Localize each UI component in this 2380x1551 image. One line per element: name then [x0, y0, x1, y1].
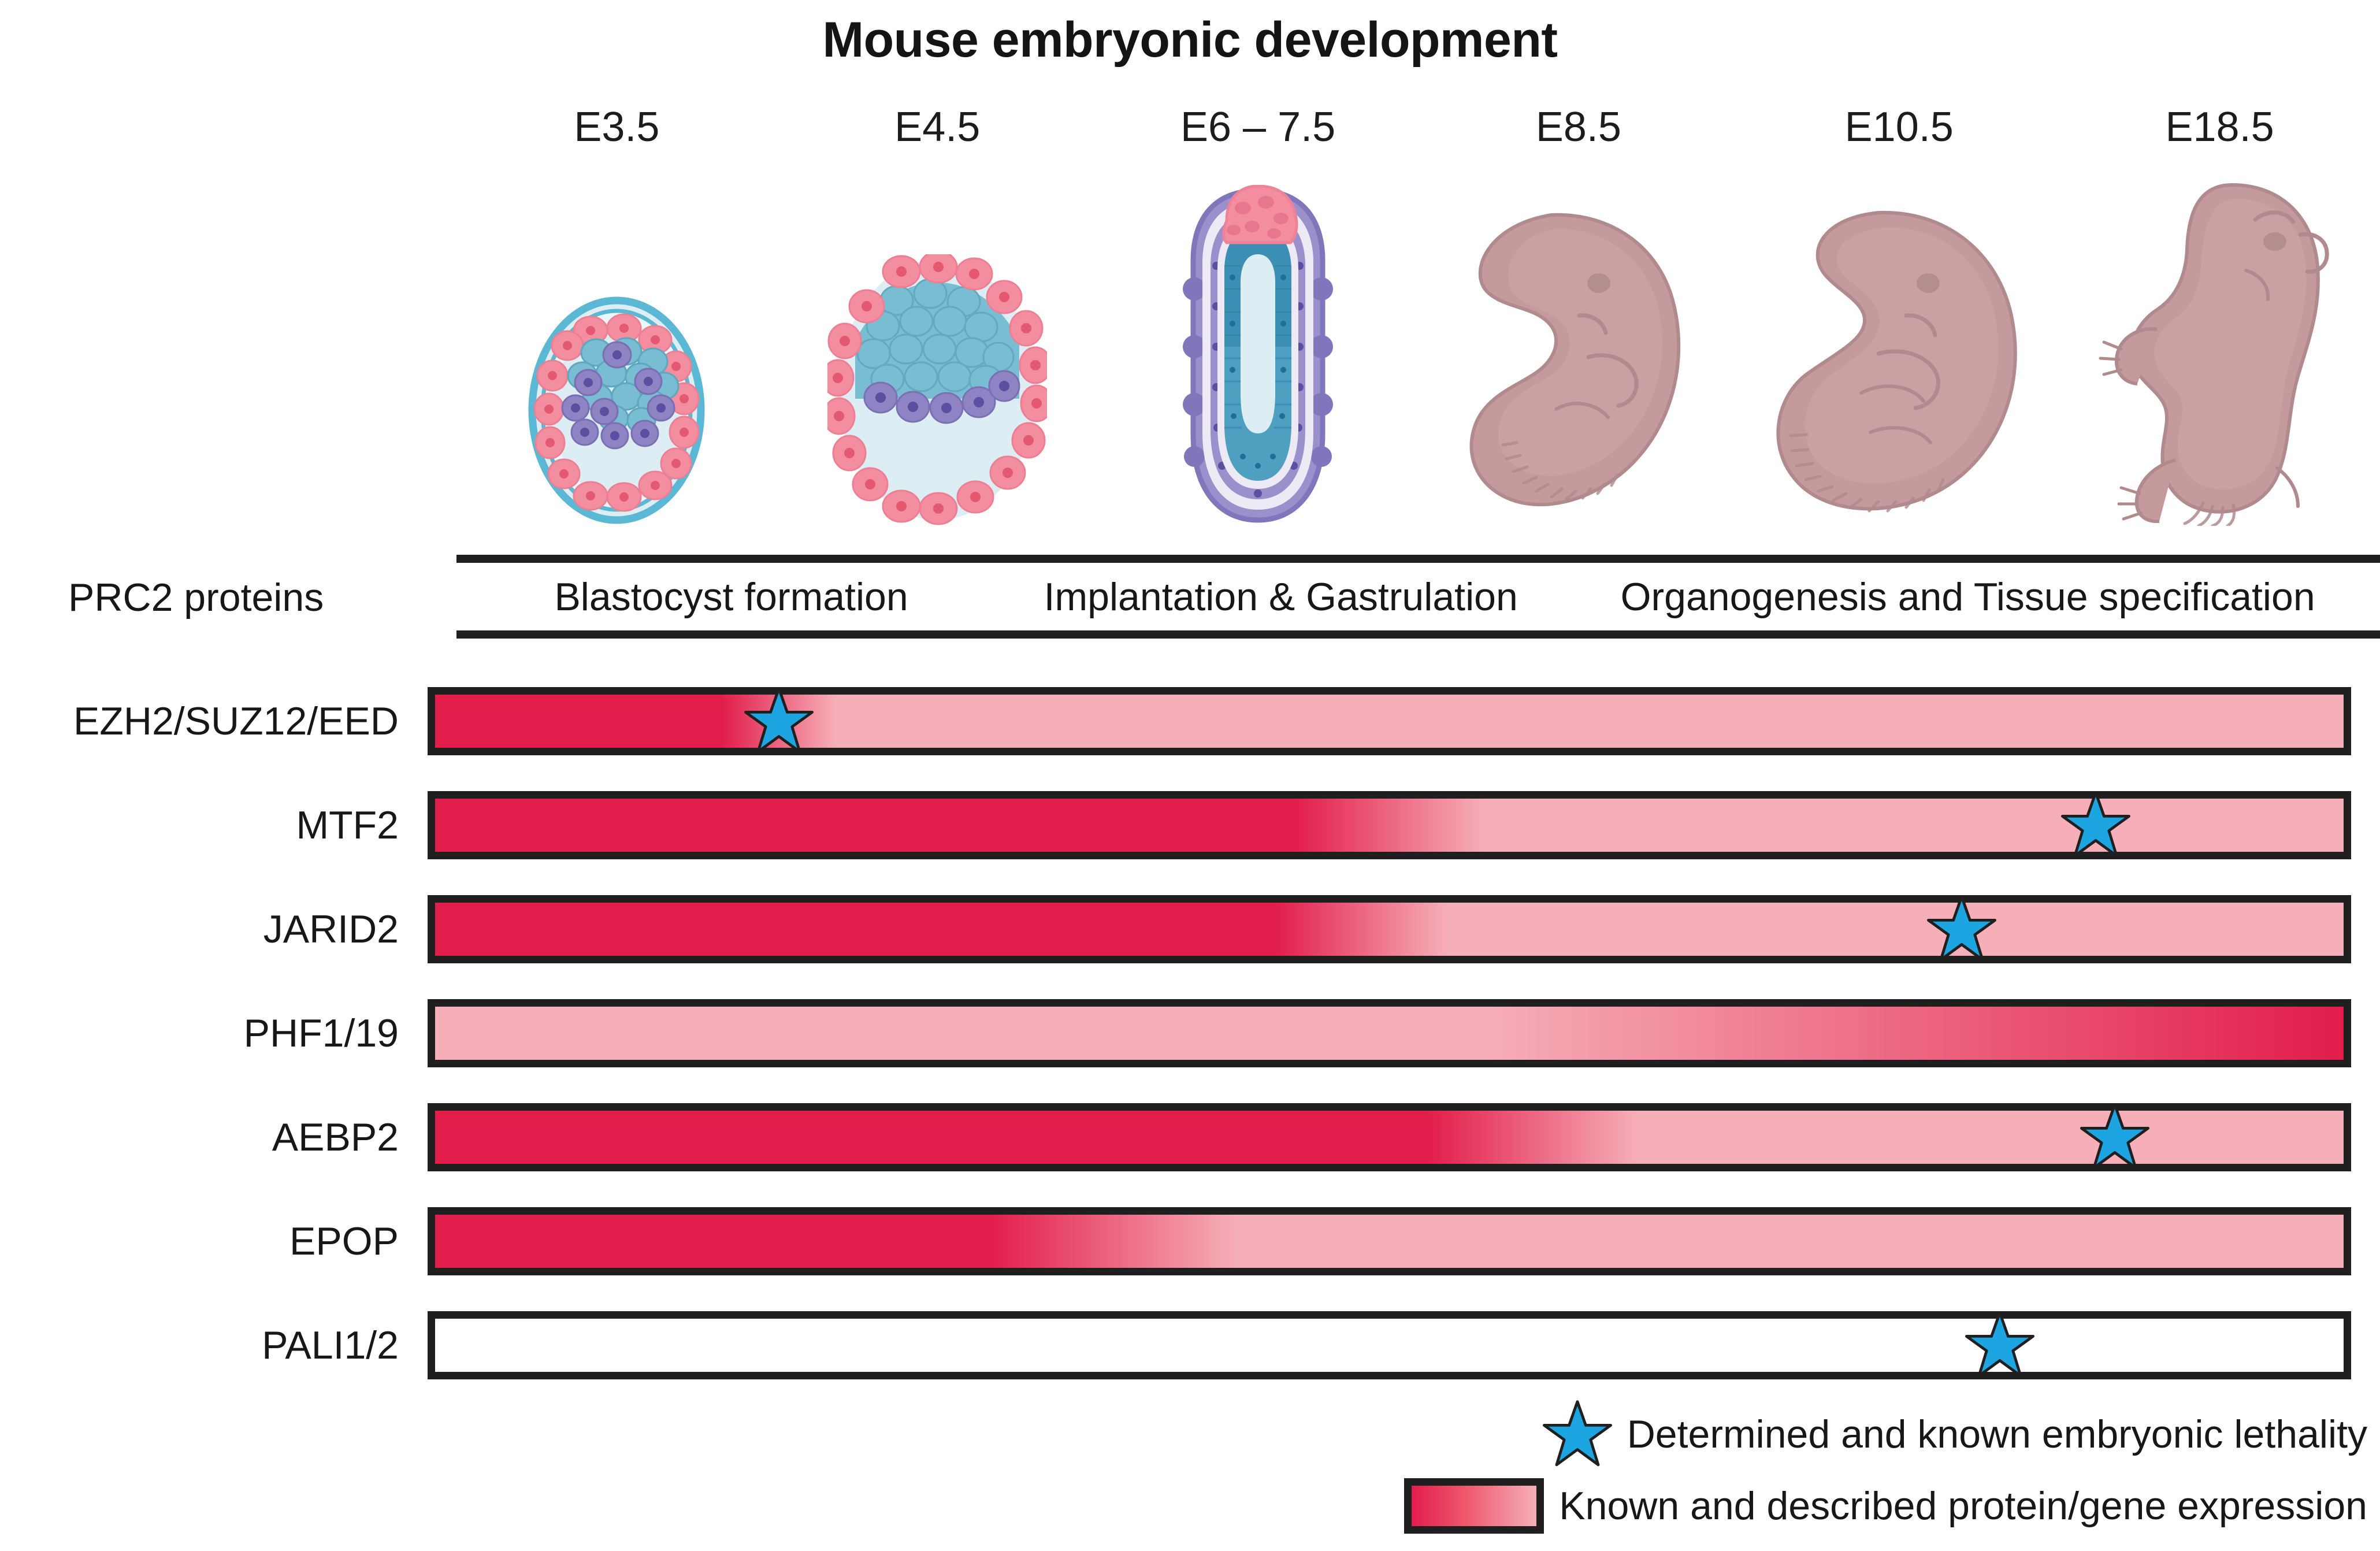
expression-gradient [435, 695, 2344, 748]
lethality-star-icon [1927, 895, 1996, 964]
lethality-star-icon [2080, 1103, 2149, 1172]
expression-matrix: EZH2/SUZ12/EEDMTF2JARID2PHF1/19AEBP2EPOP… [0, 669, 2380, 1397]
legend-entry-expression: Known and described protein/gene express… [0, 1470, 2380, 1542]
expression-gradient [435, 903, 2344, 956]
expression-row-label-mtf2: MTF2 [0, 803, 428, 848]
illustration-cell-e10-5 [1739, 156, 2059, 526]
phase-header-row: Blastocyst formationImplantation & Gastr… [456, 555, 2380, 639]
expression-row: EPOP [0, 1189, 2380, 1293]
expression-row-label-aebp2: AEBP2 [0, 1115, 428, 1160]
embryo-illustration-row [456, 156, 2380, 526]
expression-row-label-ezh2-suz12-eed: EZH2/SUZ12/EED [0, 699, 428, 744]
legend-entry-lethality: Determined and known embryonic lethality [0, 1398, 2380, 1470]
blastocyst-late-icon [827, 254, 1047, 526]
expression-row: AEBP2 [0, 1085, 2380, 1189]
illustration-cell-e3-5 [456, 156, 777, 526]
lethality-star-icon [744, 687, 814, 756]
expression-gradient [435, 1215, 2344, 1268]
expression-bar [428, 1103, 2351, 1171]
lethality-star-icon [2061, 791, 2130, 860]
figure-legend: Determined and known embryonic lethality… [0, 1398, 2380, 1542]
fetus-e18-5-icon [2084, 179, 2356, 526]
stage-label-3: E8.5 [1418, 98, 1739, 162]
expression-bar [428, 999, 2351, 1067]
page-title: Mouse embryonic development [0, 12, 2380, 69]
expression-row: MTF2 [0, 773, 2380, 877]
blastocyst-early-icon [527, 295, 706, 526]
expression-bar [428, 687, 2351, 755]
expression-bar [428, 791, 2351, 859]
embryo-e8-5-icon [1443, 202, 1714, 526]
egg-cylinder-gastrula-icon [1171, 185, 1345, 526]
stage-label-0: E3.5 [456, 98, 777, 162]
legend-label-expression: Known and described protein/gene express… [1559, 1483, 2367, 1528]
blue-star-icon [1543, 1400, 1612, 1469]
stage-label-2: E6 – 7.5 [1098, 98, 1419, 162]
illustration-cell-e8-5 [1418, 156, 1739, 526]
expression-gradient [435, 799, 2344, 852]
stage-label-1: E4.5 [777, 98, 1098, 162]
stage-label-4: E10.5 [1739, 98, 2059, 162]
phase-label-0: Blastocyst formation [456, 563, 1006, 630]
expression-row: PALI1/2 [0, 1293, 2380, 1397]
stage-label-5: E18.5 [2059, 98, 2380, 162]
phase-label-2: Organogenesis and Tissue specification [1555, 563, 2380, 630]
expression-bar [428, 1207, 2351, 1275]
expression-gradient [435, 1319, 2344, 1372]
prc2-proteins-header-label: PRC2 proteins [0, 575, 428, 620]
expression-row-label-phf1-19: PHF1/19 [0, 1011, 428, 1056]
expression-gradient [435, 1111, 2344, 1164]
expression-row: PHF1/19 [0, 981, 2380, 1085]
expression-bar [428, 1311, 2351, 1379]
expression-gradient [435, 1007, 2344, 1060]
embryo-e10-5-icon [1755, 202, 2044, 526]
expression-row: EZH2/SUZ12/EED [0, 669, 2380, 773]
expression-bar [428, 895, 2351, 963]
illustration-cell-e18-5 [2059, 156, 2380, 526]
expression-row-label-pali1-2: PALI1/2 [0, 1323, 428, 1368]
illustration-cell-e4-5 [777, 156, 1098, 526]
expression-row: JARID2 [0, 877, 2380, 981]
gradient-swatch-icon [1404, 1478, 1544, 1534]
legend-label-lethality: Determined and known embryonic lethality [1627, 1412, 2367, 1457]
lethality-star-icon [1965, 1311, 2034, 1380]
expression-row-label-epop: EPOP [0, 1219, 428, 1264]
stage-label-row: E3.5E4.5E6 – 7.5E8.5E10.5E18.5 [456, 98, 2380, 162]
illustration-cell-e6-7-5 [1098, 156, 1419, 526]
phase-label-1: Implantation & Gastrulation [1006, 563, 1555, 630]
expression-row-label-jarid2: JARID2 [0, 907, 428, 952]
